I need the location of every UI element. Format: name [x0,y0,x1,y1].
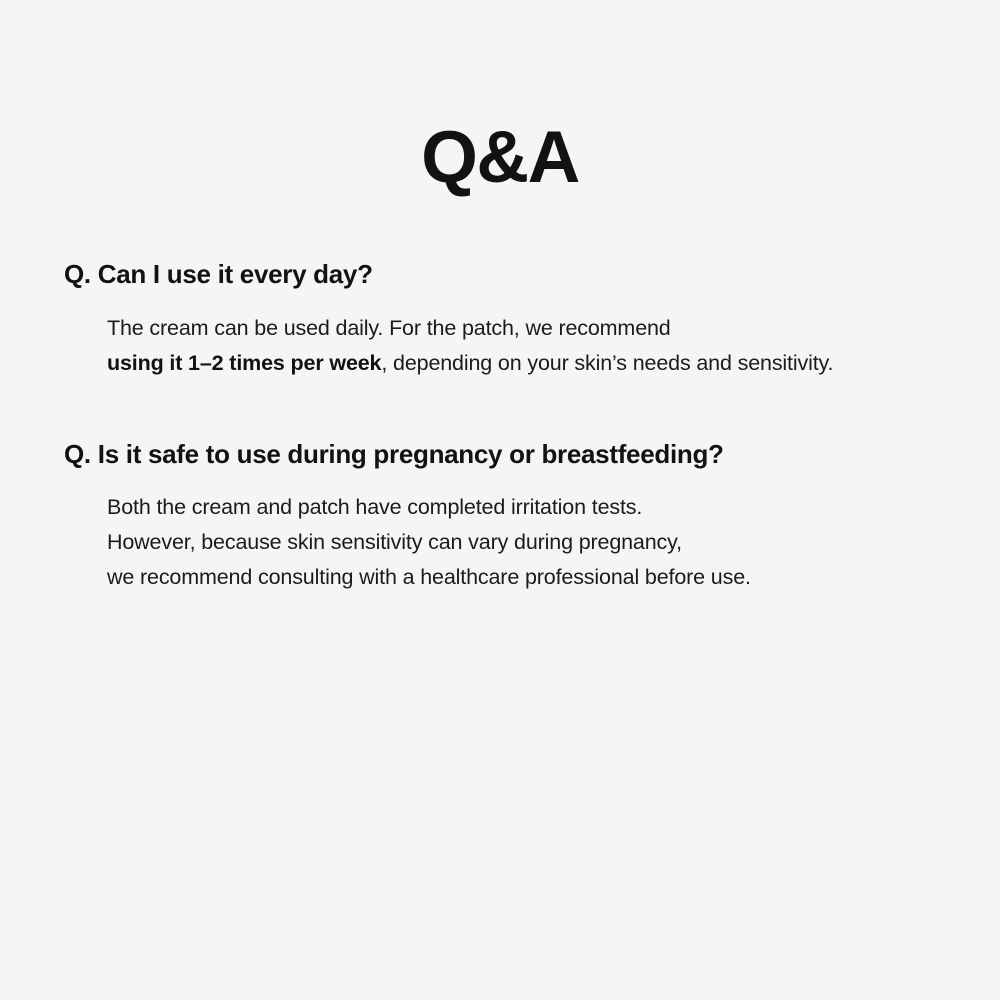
answer-emphasis: using it 1–2 times per week [107,351,381,375]
faq-question: Q. Is it safe to use during pregnancy or… [64,438,964,471]
faq-answer-line: we recommend consulting with a healthcar… [107,560,964,595]
answer-text: Both the cream and patch have completed … [107,495,642,519]
faq-list: Q. Can I use it every day? The cream can… [64,258,964,595]
answer-text: we recommend consulting with a healthcar… [107,565,751,589]
faq-answer-line: The cream can be used daily. For the pat… [107,311,964,346]
answer-text: The cream can be used daily. For the pat… [107,316,671,340]
faq-question: Q. Can I use it every day? [64,258,964,291]
faq-answer: Both the cream and patch have completed … [64,490,964,595]
page-title: Q&A [0,121,1000,194]
faq-item: Q. Is it safe to use during pregnancy or… [64,438,964,596]
faq-answer: The cream can be used daily. For the pat… [64,311,964,381]
faq-answer-line: using it 1–2 times per week, depending o… [107,346,964,381]
answer-text: , depending on your skin’s needs and sen… [381,351,833,375]
answer-text: However, because skin sensitivity can va… [107,530,682,554]
faq-answer-line: Both the cream and patch have completed … [107,490,964,525]
faq-item: Q. Can I use it every day? The cream can… [64,258,964,381]
faq-answer-line: However, because skin sensitivity can va… [107,525,964,560]
qa-page: Q&A Q. Can I use it every day? The cream… [0,0,1000,1000]
